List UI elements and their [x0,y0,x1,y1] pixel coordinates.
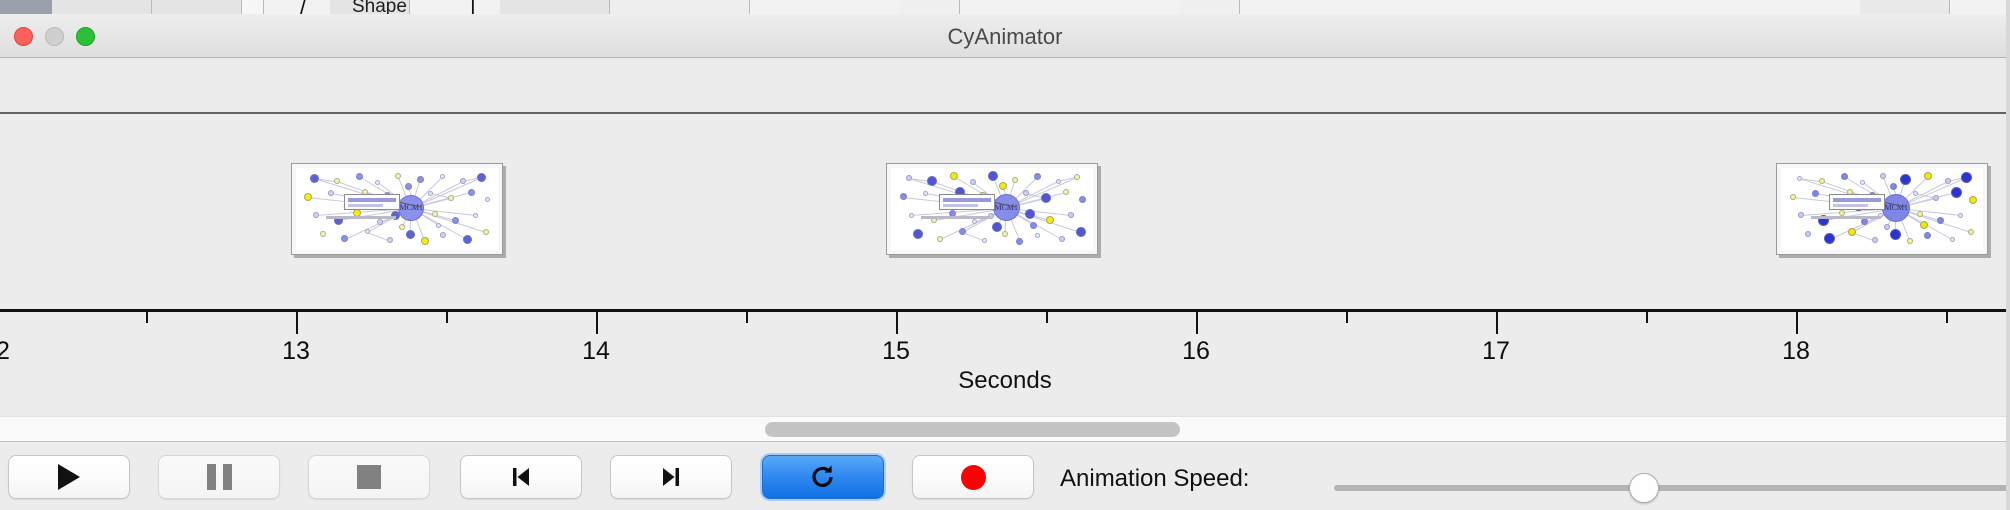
ruler-tick-minor [1346,312,1348,323]
network-node [988,171,998,181]
ruler-tick-label: 18 [1782,337,1810,366]
network-node [448,195,454,201]
network-hub-node: MCM1 [993,194,1020,221]
title-bar: CyAnimator [0,14,2010,58]
network-node [1841,173,1848,180]
ruler-tick-minor [1046,312,1048,323]
ruler-tick-minor [446,312,448,323]
ruler-tick-minor [746,312,748,323]
network-hub-node: MCM1 [1882,194,1910,222]
play-button[interactable] [8,455,130,499]
scrollbar-thumb[interactable] [765,422,1180,437]
network-node [1933,195,1939,201]
network-node [1025,209,1035,219]
network-node [1016,238,1023,245]
network-node [395,173,401,179]
network-node [1937,217,1944,224]
network-node [906,175,912,181]
ruler-baseline [0,309,2010,312]
network-node [909,213,914,218]
network-node [399,224,405,230]
network-node [1907,238,1913,244]
ruler-tick-major [296,312,298,334]
network-node [1950,237,1955,242]
network-node [1913,191,1918,196]
network-hub-node: MCM1 [398,195,424,221]
network-node [1068,212,1074,218]
keyframe-thumbnail[interactable]: MCM1 [1776,163,1988,255]
network-node [927,176,937,186]
network-node [1797,176,1802,181]
network-node [1030,222,1037,229]
network-node [1958,213,1963,218]
network-node [440,174,445,179]
stop-button[interactable] [308,455,430,499]
keyframe-thumbnail[interactable]: MCM1 [886,163,1098,255]
network-node [1890,229,1901,240]
network-node [356,173,363,180]
network-node [421,237,429,245]
ruler-tick-label: 17 [1482,337,1510,366]
network-node [485,197,490,202]
network-thumbnail-canvas: MCM1 [1781,168,1983,250]
network-node [1917,211,1923,217]
ruler-tick-minor [1946,312,1948,323]
network-node [334,178,340,184]
play-icon [58,464,80,490]
pause-button[interactable] [158,455,280,499]
network-node [1076,227,1086,237]
network-node [923,191,928,196]
network-node [387,237,393,243]
network-node [483,229,489,235]
frame-toolbar: ✚ Clear All Frames [0,58,2010,113]
ruler-tick-minor [146,312,148,323]
ruler-tick-major [596,312,598,334]
window-right-edge [2006,0,2010,510]
network-node [1872,237,1878,243]
ruler-tick-minor [1646,312,1648,323]
network-caption [1811,216,1881,219]
network-node [1002,231,1008,237]
playback-control-bar: Animation Speed: [0,443,2010,510]
network-node [937,236,943,242]
record-icon [961,465,986,490]
ruler-tick-major [1796,312,1798,334]
pause-icon [207,464,232,490]
network-node [1041,193,1051,203]
network-node [1798,212,1804,218]
loop-icon [808,462,838,492]
network-node [377,219,383,225]
network-node [1884,224,1890,230]
network-node [463,235,472,244]
network-node [1860,180,1865,185]
ruler-tick-label: 13 [282,337,310,366]
network-node [1890,183,1897,190]
ruler-tick-major [1196,312,1198,334]
network-node [320,231,326,237]
network-node [900,193,907,200]
network-node [304,193,312,201]
network-thumbnail-canvas: MCM1 [296,168,498,250]
skip-to-end-button[interactable] [610,455,732,499]
ruler-tick-label: 12 [0,337,10,366]
network-node [999,182,1007,190]
network-node [440,232,446,238]
network-node [1951,187,1962,198]
background-window-label: Shape [352,0,407,14]
loop-button[interactable] [762,455,884,499]
animation-speed-slider-thumb[interactable] [1629,473,1659,503]
network-node [1035,233,1040,238]
network-node [1961,172,1972,183]
horizontal-scrollbar[interactable] [0,416,2010,442]
network-node [1968,229,1974,235]
network-node [468,189,475,196]
network-node [328,190,334,196]
network-node [432,211,438,217]
network-node [406,230,415,239]
time-ruler[interactable]: 12131415161718 Seconds [0,309,2010,414]
network-node [1812,190,1819,197]
ruler-tick-major [1496,312,1498,334]
record-button[interactable] [912,455,1034,499]
animation-speed-slider[interactable] [1334,485,2010,491]
network-node [1805,231,1811,237]
skip-to-start-button[interactable] [460,455,582,499]
skip-next-icon [656,463,686,491]
network-thumbnail-canvas: MCM1 [891,168,1093,250]
network-node [1969,196,1977,204]
network-node [970,179,976,185]
network-node [405,183,412,190]
network-node [1819,178,1825,184]
network-node [1920,221,1928,229]
skip-previous-icon [506,463,536,491]
ruler-tick-major [896,312,898,334]
network-node [982,238,987,243]
network-node [1824,233,1835,244]
network-node [436,223,441,228]
network-node [1900,174,1911,185]
timeline-track: MCM1 MCM1 MCM1 [0,114,2010,309]
network-node [428,191,433,196]
network-node [1034,173,1041,180]
network-caption [921,216,991,219]
network-node [473,213,478,218]
network-node [313,212,319,218]
network-tooltip [344,194,400,210]
window-title: CyAnimator [0,24,2010,50]
network-node [1790,194,1796,200]
network-node [1012,177,1018,183]
axis-title: Seconds [0,367,2010,395]
ruler-tick-label: 16 [1182,337,1210,366]
cyanimator-window: / | Shape CyAnimator ✚ Clear All Frames [0,0,2010,510]
network-node [1059,236,1065,242]
ruler-tick-label: 14 [582,337,610,366]
keyframe-thumbnail[interactable]: MCM1 [291,163,503,255]
network-node [1924,232,1931,239]
network-node [310,174,319,183]
network-node [992,222,1002,232]
stop-icon [357,465,381,489]
network-node [1056,179,1061,184]
network-node [417,176,424,183]
network-tooltip [1829,194,1885,210]
network-node [477,173,486,182]
network-node [341,235,348,242]
background-window-strip: / | Shape [0,0,2010,14]
network-node [1880,173,1886,179]
network-node [1848,228,1856,236]
network-node [1074,174,1080,180]
network-node [1079,196,1086,203]
network-node [913,229,923,239]
network-caption [326,216,396,219]
network-node [1924,172,1932,180]
network-node [452,217,459,224]
network-node [1063,189,1069,195]
network-node [1023,190,1029,196]
ruler-tick-label: 15 [882,337,910,366]
animation-speed-label: Animation Speed: [1060,465,1249,493]
network-node [375,180,380,185]
network-tooltip [939,194,995,210]
